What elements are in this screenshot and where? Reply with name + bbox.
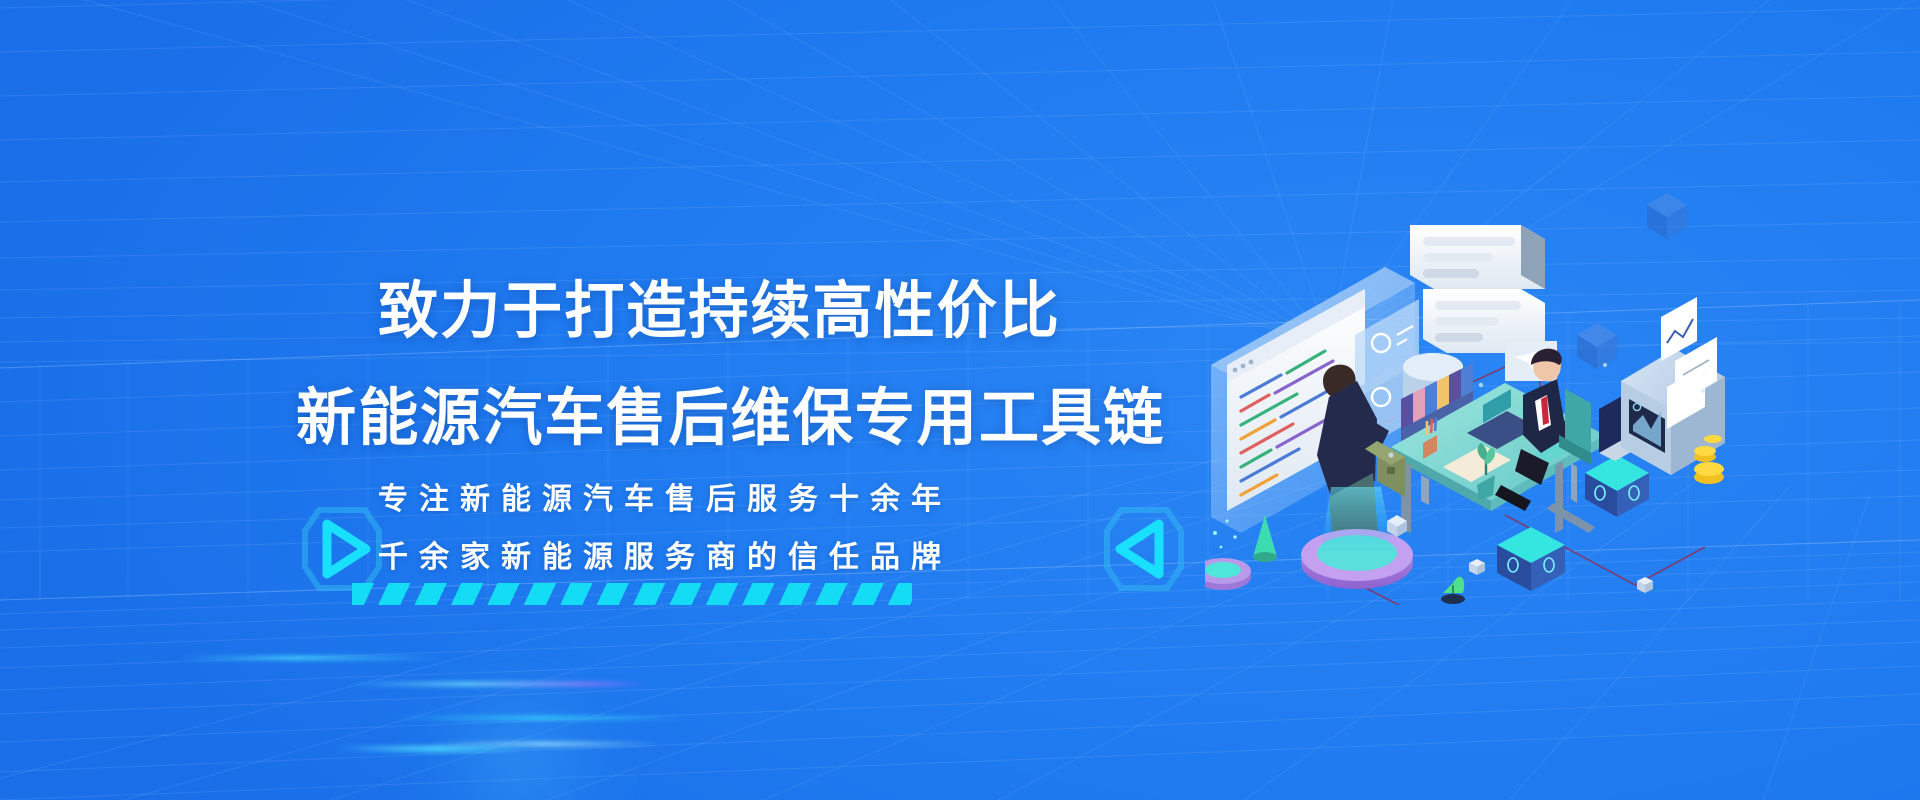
headline-line-1: 致力于打造持续高性价比: [378, 260, 1061, 350]
glowing-cube-node: [1497, 527, 1565, 591]
floating-cube: [1469, 559, 1485, 575]
purple-platform: [1205, 558, 1251, 590]
subheadline-line-1: 专注新能源汽车售后服务十余年: [378, 474, 952, 518]
floating-cube: [1577, 323, 1617, 369]
glowing-cube-node: [1585, 455, 1649, 517]
floating-cube: [1637, 577, 1653, 593]
cone-tree: [1441, 577, 1465, 604]
platform-glow: [1321, 487, 1393, 551]
banner-stage: 致力于打造持续高性价比 新能源汽车售后维保专用工具链 专注新能源汽车售后服务十余…: [0, 0, 1920, 800]
play-left-icon: [1098, 496, 1190, 607]
isometric-business-tech-illustration: [1205, 185, 1725, 605]
chat-bubble-panel: [1410, 225, 1545, 289]
floating-cube: [1647, 193, 1687, 239]
headline-line-2: 新能源汽车售后维保专用工具链: [296, 367, 1165, 457]
subheadline-line-2: 千余家新能源服务商的信任品牌: [378, 532, 952, 576]
diagonal-stripe-divider: [352, 583, 912, 605]
